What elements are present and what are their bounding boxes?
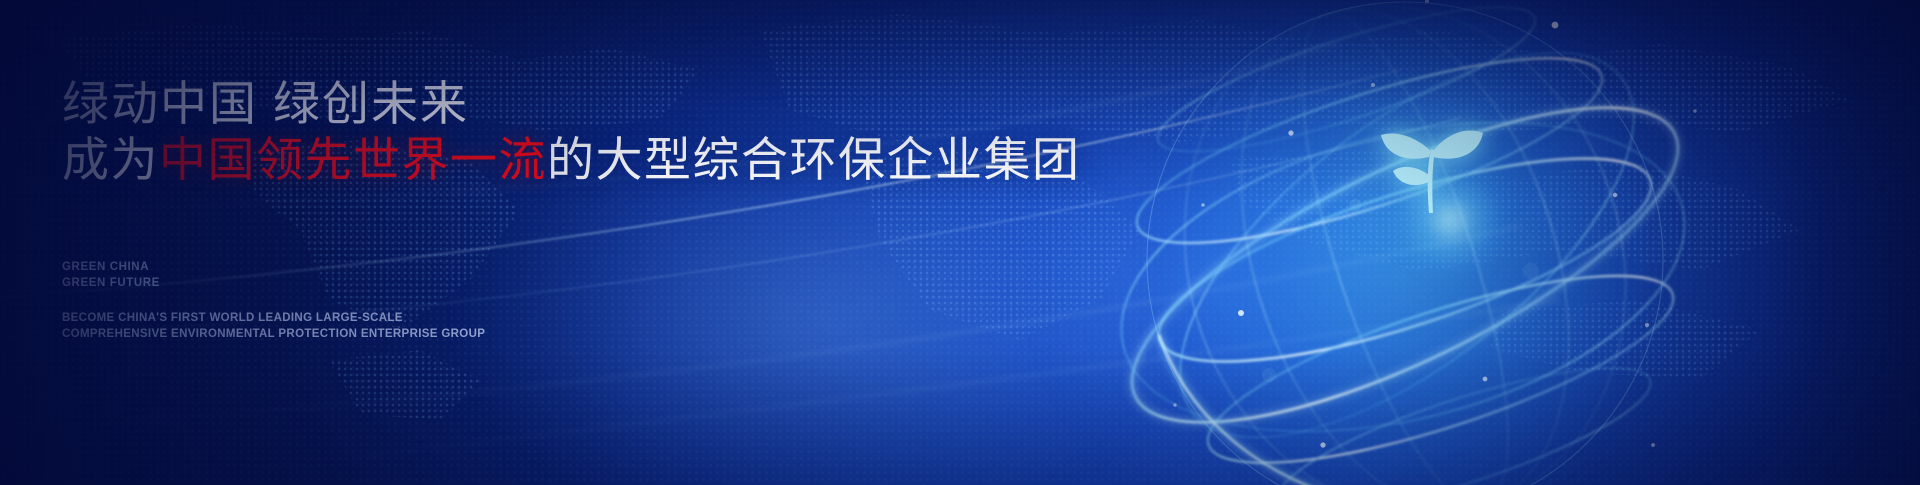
headline-suffix: 的大型综合环保企业集团 xyxy=(547,133,1081,186)
banner-text-block: 绿动中国 绿创未来 成为中国领先世界一流的大型综合环保企业集团 GREEN CH… xyxy=(62,0,1062,485)
english-tagline: GREEN CHINA GREEN FUTURE xyxy=(62,259,160,292)
headline-prefix: 成为 xyxy=(62,133,159,186)
english-subtitle: BECOME CHINA'S FIRST WORLD LEADING LARGE… xyxy=(62,310,485,343)
english-subtitle-line-2: COMPREHENSIVE ENVIRONMENTAL PROTECTION E… xyxy=(62,326,485,342)
english-subtitle-line-1: BECOME CHINA'S FIRST WORLD LEADING LARGE… xyxy=(62,310,485,326)
headline-highlight: 中国领先世界一流 xyxy=(159,133,547,186)
english-tagline-line-1: GREEN CHINA xyxy=(62,259,160,275)
hero-banner: 绿动中国 绿创未来 成为中国领先世界一流的大型综合环保企业集团 GREEN CH… xyxy=(0,0,1920,485)
english-tagline-line-2: GREEN FUTURE xyxy=(62,275,160,291)
headline-line-1: 绿动中国 绿创未来 xyxy=(62,78,469,131)
headline-line-2: 成为中国领先世界一流的大型综合环保企业集团 xyxy=(62,134,1081,187)
